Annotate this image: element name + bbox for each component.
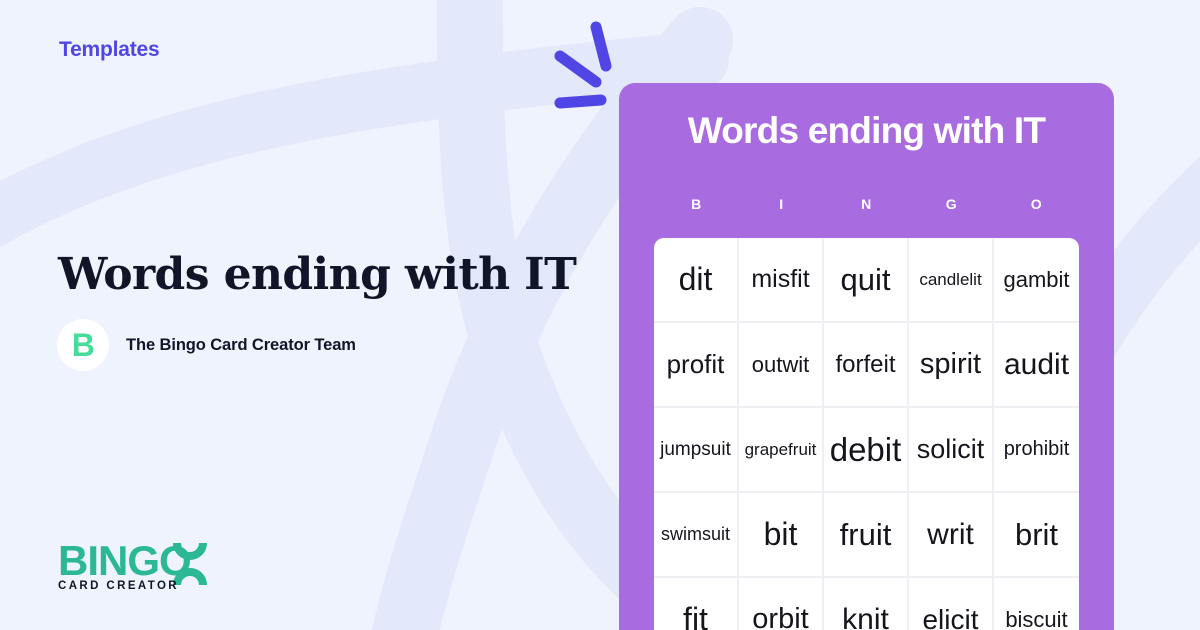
- bingo-cell[interactable]: solicit: [909, 408, 994, 493]
- logo-wordmark-text: BINGO: [58, 537, 191, 584]
- page-title: Words ending with IT: [58, 249, 576, 300]
- bingo-grid: ditmisfitquitcandlelitgambitprofitoutwit…: [654, 238, 1079, 630]
- bingo-cell[interactable]: bit: [739, 493, 824, 578]
- bingo-cell[interactable]: quit: [824, 238, 909, 323]
- bingo-cell[interactable]: profit: [654, 323, 739, 408]
- bingo-cell[interactable]: brit: [994, 493, 1079, 578]
- bingo-cell[interactable]: fruit: [824, 493, 909, 578]
- bingo-cell[interactable]: writ: [909, 493, 994, 578]
- avatar-letter: B: [72, 329, 95, 361]
- bingo-cell[interactable]: candlelit: [909, 238, 994, 323]
- bingo-cell[interactable]: grapefruit: [739, 408, 824, 493]
- bingo-cell[interactable]: biscuit: [994, 578, 1079, 630]
- column-header-i: I: [739, 196, 824, 212]
- bingo-cell[interactable]: knit: [824, 578, 909, 630]
- column-header-b: B: [654, 196, 739, 212]
- bingo-cell[interactable]: dit: [654, 238, 739, 323]
- bingo-cell[interactable]: spirit: [909, 323, 994, 408]
- eyebrow-label: Templates: [59, 38, 160, 62]
- bingo-cell[interactable]: orbit: [739, 578, 824, 630]
- bingo-cell[interactable]: forfeit: [824, 323, 909, 408]
- bingo-cell[interactable]: misfit: [739, 238, 824, 323]
- author-name: The Bingo Card Creator Team: [126, 336, 356, 355]
- bingo-card-title: Words ending with IT: [619, 110, 1114, 152]
- bingo-cell[interactable]: outwit: [739, 323, 824, 408]
- bingo-cell[interactable]: swimsuit: [654, 493, 739, 578]
- bingo-column-headers: B I N G O: [654, 196, 1079, 212]
- bingo-cell[interactable]: audit: [994, 323, 1079, 408]
- bingo-cell[interactable]: elicit: [909, 578, 994, 630]
- bingo-cell[interactable]: gambit: [994, 238, 1079, 323]
- avatar: B: [57, 319, 109, 371]
- promo-banner: Templates Words ending with IT B The Bin…: [0, 0, 1200, 630]
- bingo-cell[interactable]: prohibit: [994, 408, 1079, 493]
- byline: B The Bingo Card Creator Team: [57, 319, 356, 371]
- column-header-g: G: [909, 196, 994, 212]
- column-header-o: O: [994, 196, 1079, 212]
- column-header-n: N: [824, 196, 909, 212]
- bingo-card: Words ending with IT B I N G O ditmisfit…: [619, 83, 1114, 630]
- bingo-cell[interactable]: jumpsuit: [654, 408, 739, 493]
- logo-tagline: CARD CREATOR: [58, 580, 179, 592]
- bingo-cell[interactable]: fit: [654, 578, 739, 630]
- bingo-cell[interactable]: debit: [824, 408, 909, 493]
